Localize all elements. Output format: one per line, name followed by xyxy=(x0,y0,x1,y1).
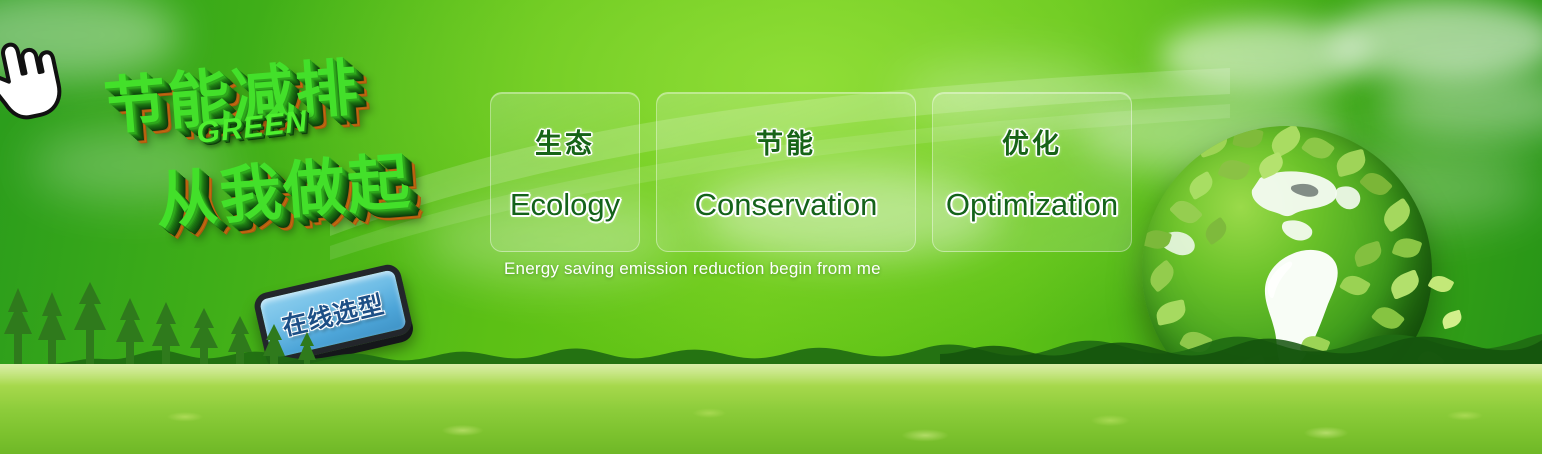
feature-card-ecology[interactable]: 生态 Ecology xyxy=(490,92,640,252)
cloud-icon xyxy=(1330,0,1542,80)
card-title-cn: 节能 xyxy=(756,122,816,161)
feature-card-optimization[interactable]: 优化 Optimization xyxy=(932,92,1132,252)
button-label: 在线选型 xyxy=(252,262,414,366)
cloud-icon xyxy=(1160,20,1370,92)
card-title-cn: 生态 xyxy=(535,122,595,161)
online-selection-button[interactable]: 在线选型 xyxy=(252,262,414,366)
card-title-cn: 优化 xyxy=(1002,122,1062,161)
card-title-en: Ecology xyxy=(510,187,620,223)
eco-banner: 节能减排 从我做起 GREEN 生态 Ecology 节能 Conservati… xyxy=(0,0,1542,454)
feature-cards: 生态 Ecology 节能 Conservation 优化 Optimizati… xyxy=(490,92,1132,252)
feature-card-conservation[interactable]: 节能 Conservation xyxy=(656,92,916,252)
pointing-hand-cursor-icon xyxy=(0,30,64,122)
tagline: Energy saving emission reduction begin f… xyxy=(504,259,881,279)
falling-leaf xyxy=(1440,310,1463,330)
card-title-en: Optimization xyxy=(946,187,1118,223)
grass-field xyxy=(0,364,1542,454)
headline-artwork: 节能减排 从我做起 GREEN xyxy=(92,21,488,275)
grass-texture xyxy=(0,392,1542,454)
card-title-en: Conservation xyxy=(695,187,878,223)
headline-line-2: 从我做起 xyxy=(152,131,414,241)
